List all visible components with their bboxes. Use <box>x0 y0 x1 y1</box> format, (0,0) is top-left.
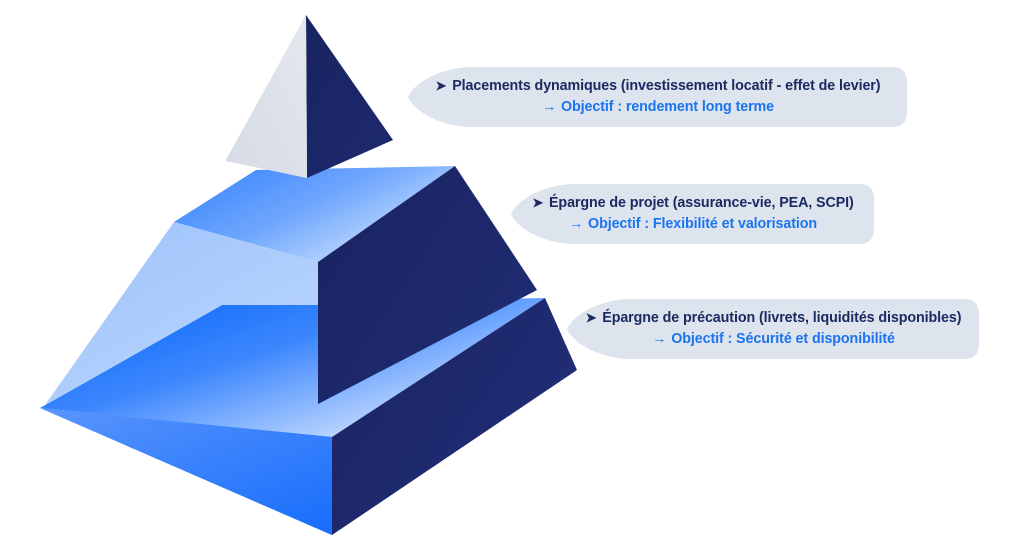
callout-top-text: ➤ Placements dynamiques (investissement … <box>436 77 881 116</box>
callout-top-label: Placements dynamiques (investissement lo… <box>452 78 880 94</box>
callout-tier-middle[interactable]: ➤ Épargne de projet (assurance-vie, PEA,… <box>507 178 879 250</box>
bullet-arrow-icon: ➤ <box>532 195 545 210</box>
callout-bottom-label: Épargne de précaution (livrets, liquidit… <box>602 310 961 326</box>
callout-middle-objective: Objectif : Flexibilité et valorisation <box>588 216 817 232</box>
callout-middle-label-line: ➤ Épargne de projet (assurance-vie, PEA,… <box>532 194 853 213</box>
bullet-arrow-icon: ➤ <box>436 78 449 93</box>
right-arrow-icon: → <box>542 99 557 115</box>
callout-middle-objective-line: → Objectif : Flexibilité et valorisation <box>532 215 853 234</box>
tier-top-left-slope <box>226 15 307 178</box>
callout-top-label-line: ➤ Placements dynamiques (investissement … <box>436 77 881 96</box>
callout-bottom-label-line: ➤ Épargne de précaution (livrets, liquid… <box>586 309 962 328</box>
callout-middle-label: Épargne de projet (assurance-vie, PEA, S… <box>549 195 854 211</box>
right-arrow-icon: → <box>652 331 667 347</box>
callout-bottom-objective: Objectif : Sécurité et disponibilité <box>671 331 895 347</box>
callout-middle-text: ➤ Épargne de projet (assurance-vie, PEA,… <box>532 194 853 233</box>
right-arrow-icon: → <box>569 216 584 232</box>
callout-bottom-objective-line: → Objectif : Sécurité et disponibilité <box>586 330 962 349</box>
diagram-canvas: ➤ Placements dynamiques (investissement … <box>0 0 1024 550</box>
tier-top-right-face <box>306 15 393 178</box>
callout-bottom-text: ➤ Épargne de précaution (livrets, liquid… <box>586 309 962 348</box>
bullet-arrow-icon: ➤ <box>586 310 599 325</box>
callout-top-objective: Objectif : rendement long terme <box>561 99 774 115</box>
callout-tier-bottom[interactable]: ➤ Épargne de précaution (livrets, liquid… <box>563 293 984 365</box>
callout-tier-top[interactable]: ➤ Placements dynamiques (investissement … <box>404 61 912 133</box>
callout-top-objective-line: → Objectif : rendement long terme <box>436 98 881 117</box>
